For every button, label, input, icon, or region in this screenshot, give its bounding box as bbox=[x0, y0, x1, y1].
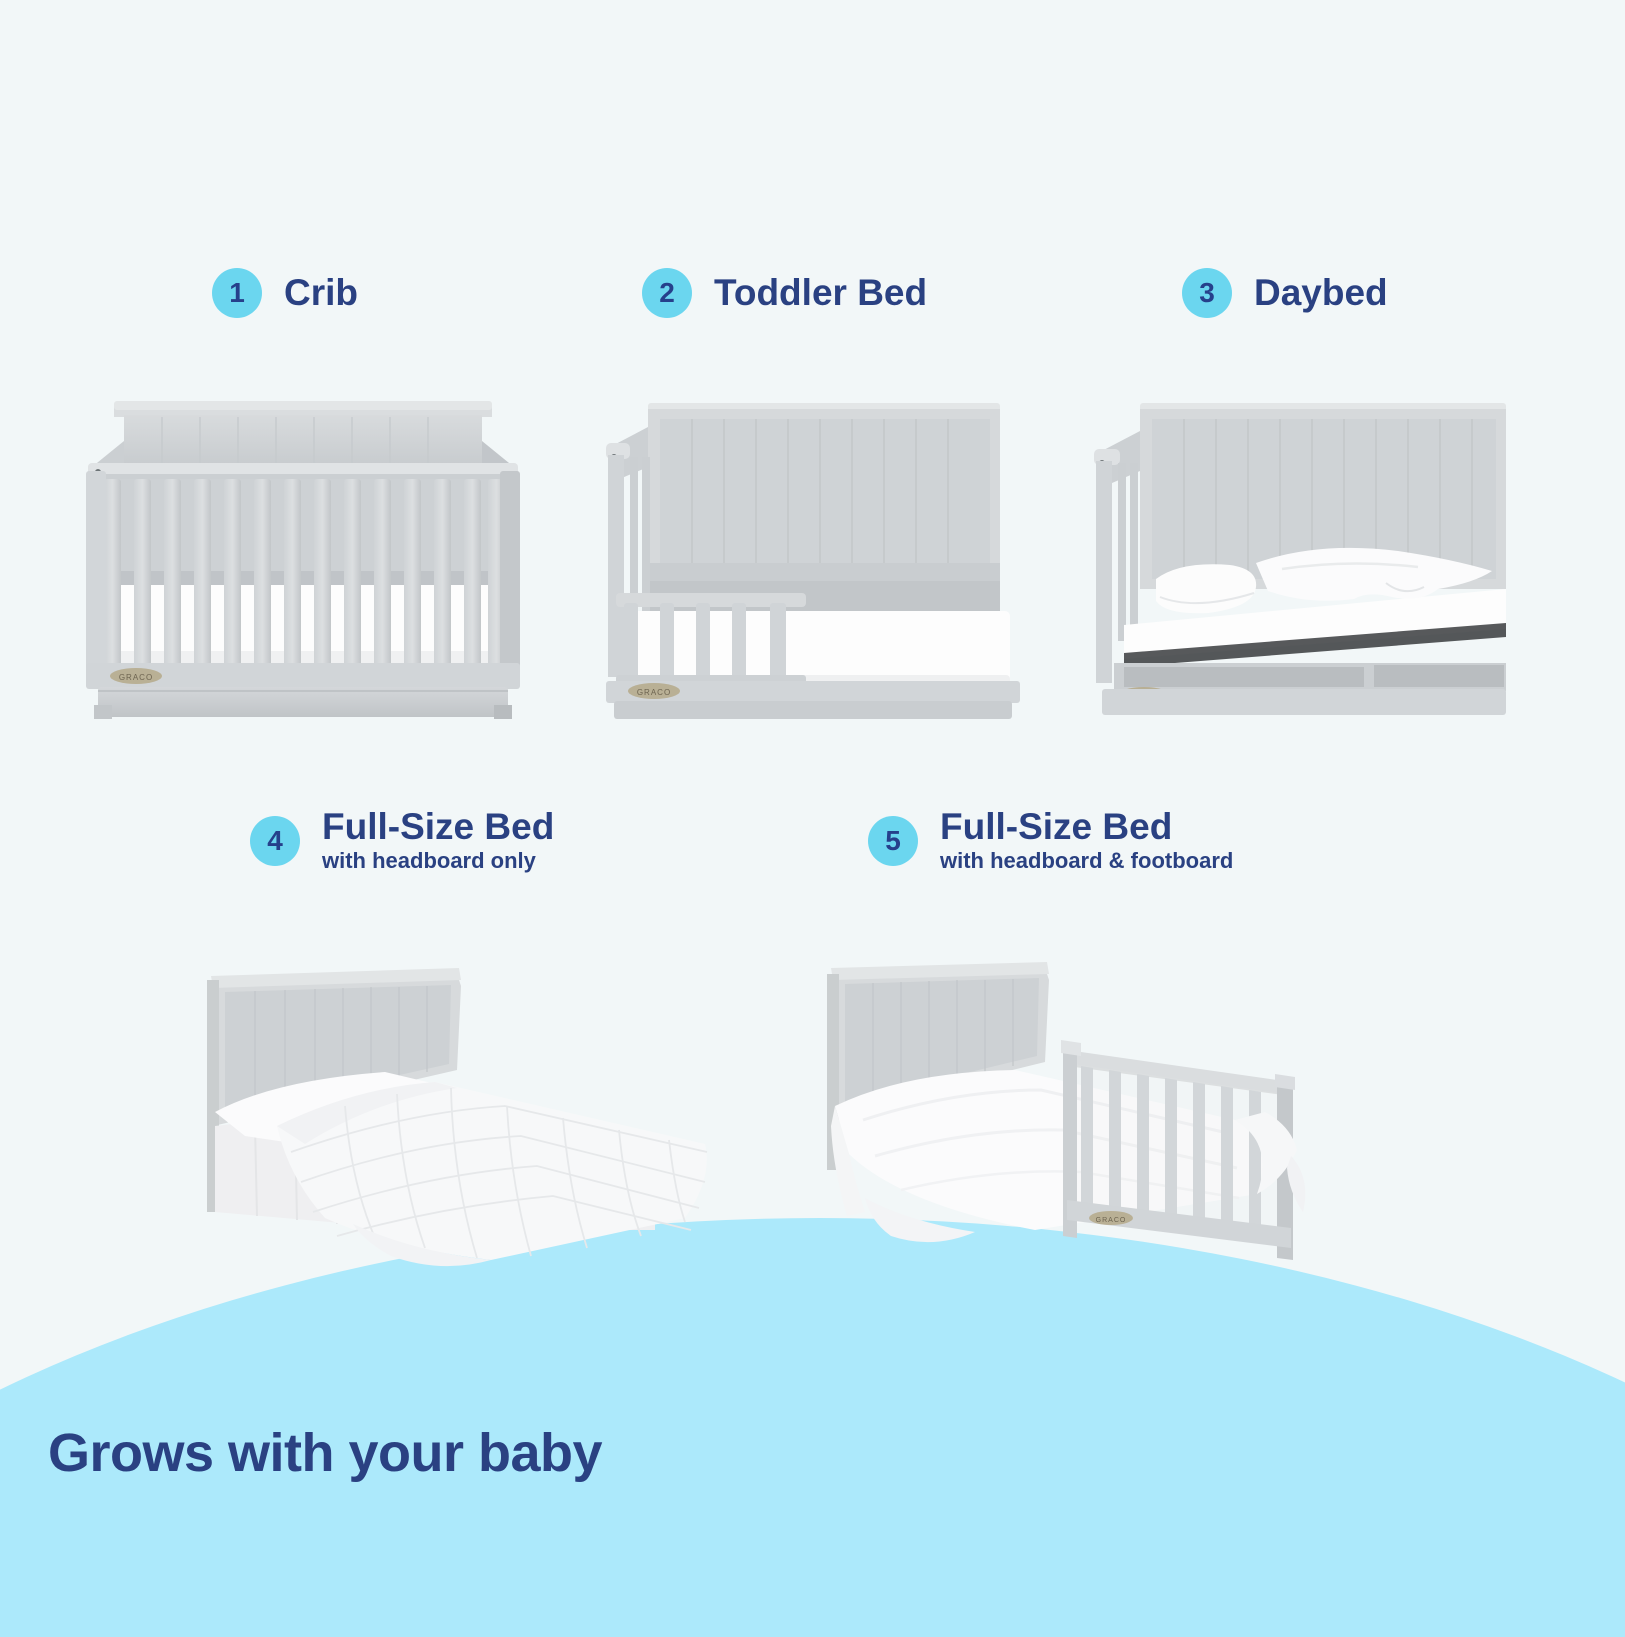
infographic-canvas: Grows with your baby 1 Crib bbox=[0, 0, 1625, 1637]
step-label-2: 2 Toddler Bed bbox=[642, 268, 927, 318]
svg-text:GRACO: GRACO bbox=[1096, 1217, 1127, 1224]
step-title-4: Full-Size Bed bbox=[322, 808, 554, 847]
crib-figure: GRACO bbox=[78, 375, 528, 720]
full-bed-headboard-footboard-figure: GRACO bbox=[805, 930, 1350, 1275]
step-text-3: Daybed bbox=[1254, 274, 1388, 313]
step-label-4: 4 Full-Size Bed with headboard only bbox=[250, 808, 554, 873]
svg-text:GRACO: GRACO bbox=[637, 688, 671, 697]
step-badge-4: 4 bbox=[250, 816, 300, 866]
step-text-4: Full-Size Bed with headboard only bbox=[322, 808, 554, 873]
step-label-1: 1 Crib bbox=[212, 268, 358, 318]
step-title-3: Daybed bbox=[1254, 274, 1388, 313]
toddler-bed-figure: GRACO bbox=[588, 375, 1038, 720]
step-text-2: Toddler Bed bbox=[714, 274, 927, 313]
step-text-1: Crib bbox=[284, 274, 358, 313]
step-badge-5: 5 bbox=[868, 816, 918, 866]
step-text-5: Full-Size Bed with headboard & footboard bbox=[940, 808, 1233, 873]
svg-text:GRACO: GRACO bbox=[119, 673, 153, 682]
step-subtitle-4: with headboard only bbox=[322, 849, 554, 873]
daybed-figure: GRACO bbox=[1068, 375, 1518, 720]
step-title-5: Full-Size Bed bbox=[940, 808, 1233, 847]
step-badge-2: 2 bbox=[642, 268, 692, 318]
step-subtitle-5: with headboard & footboard bbox=[940, 849, 1233, 873]
step-badge-3: 3 bbox=[1182, 268, 1232, 318]
full-bed-headboard-figure bbox=[185, 930, 730, 1275]
step-label-3: 3 Daybed bbox=[1182, 268, 1388, 318]
step-label-5: 5 Full-Size Bed with headboard & footboa… bbox=[868, 808, 1233, 873]
step-badge-1: 1 bbox=[212, 268, 262, 318]
page-headline: Grows with your baby bbox=[48, 1422, 602, 1484]
step-title-2: Toddler Bed bbox=[714, 274, 927, 313]
step-title-1: Crib bbox=[284, 274, 358, 313]
